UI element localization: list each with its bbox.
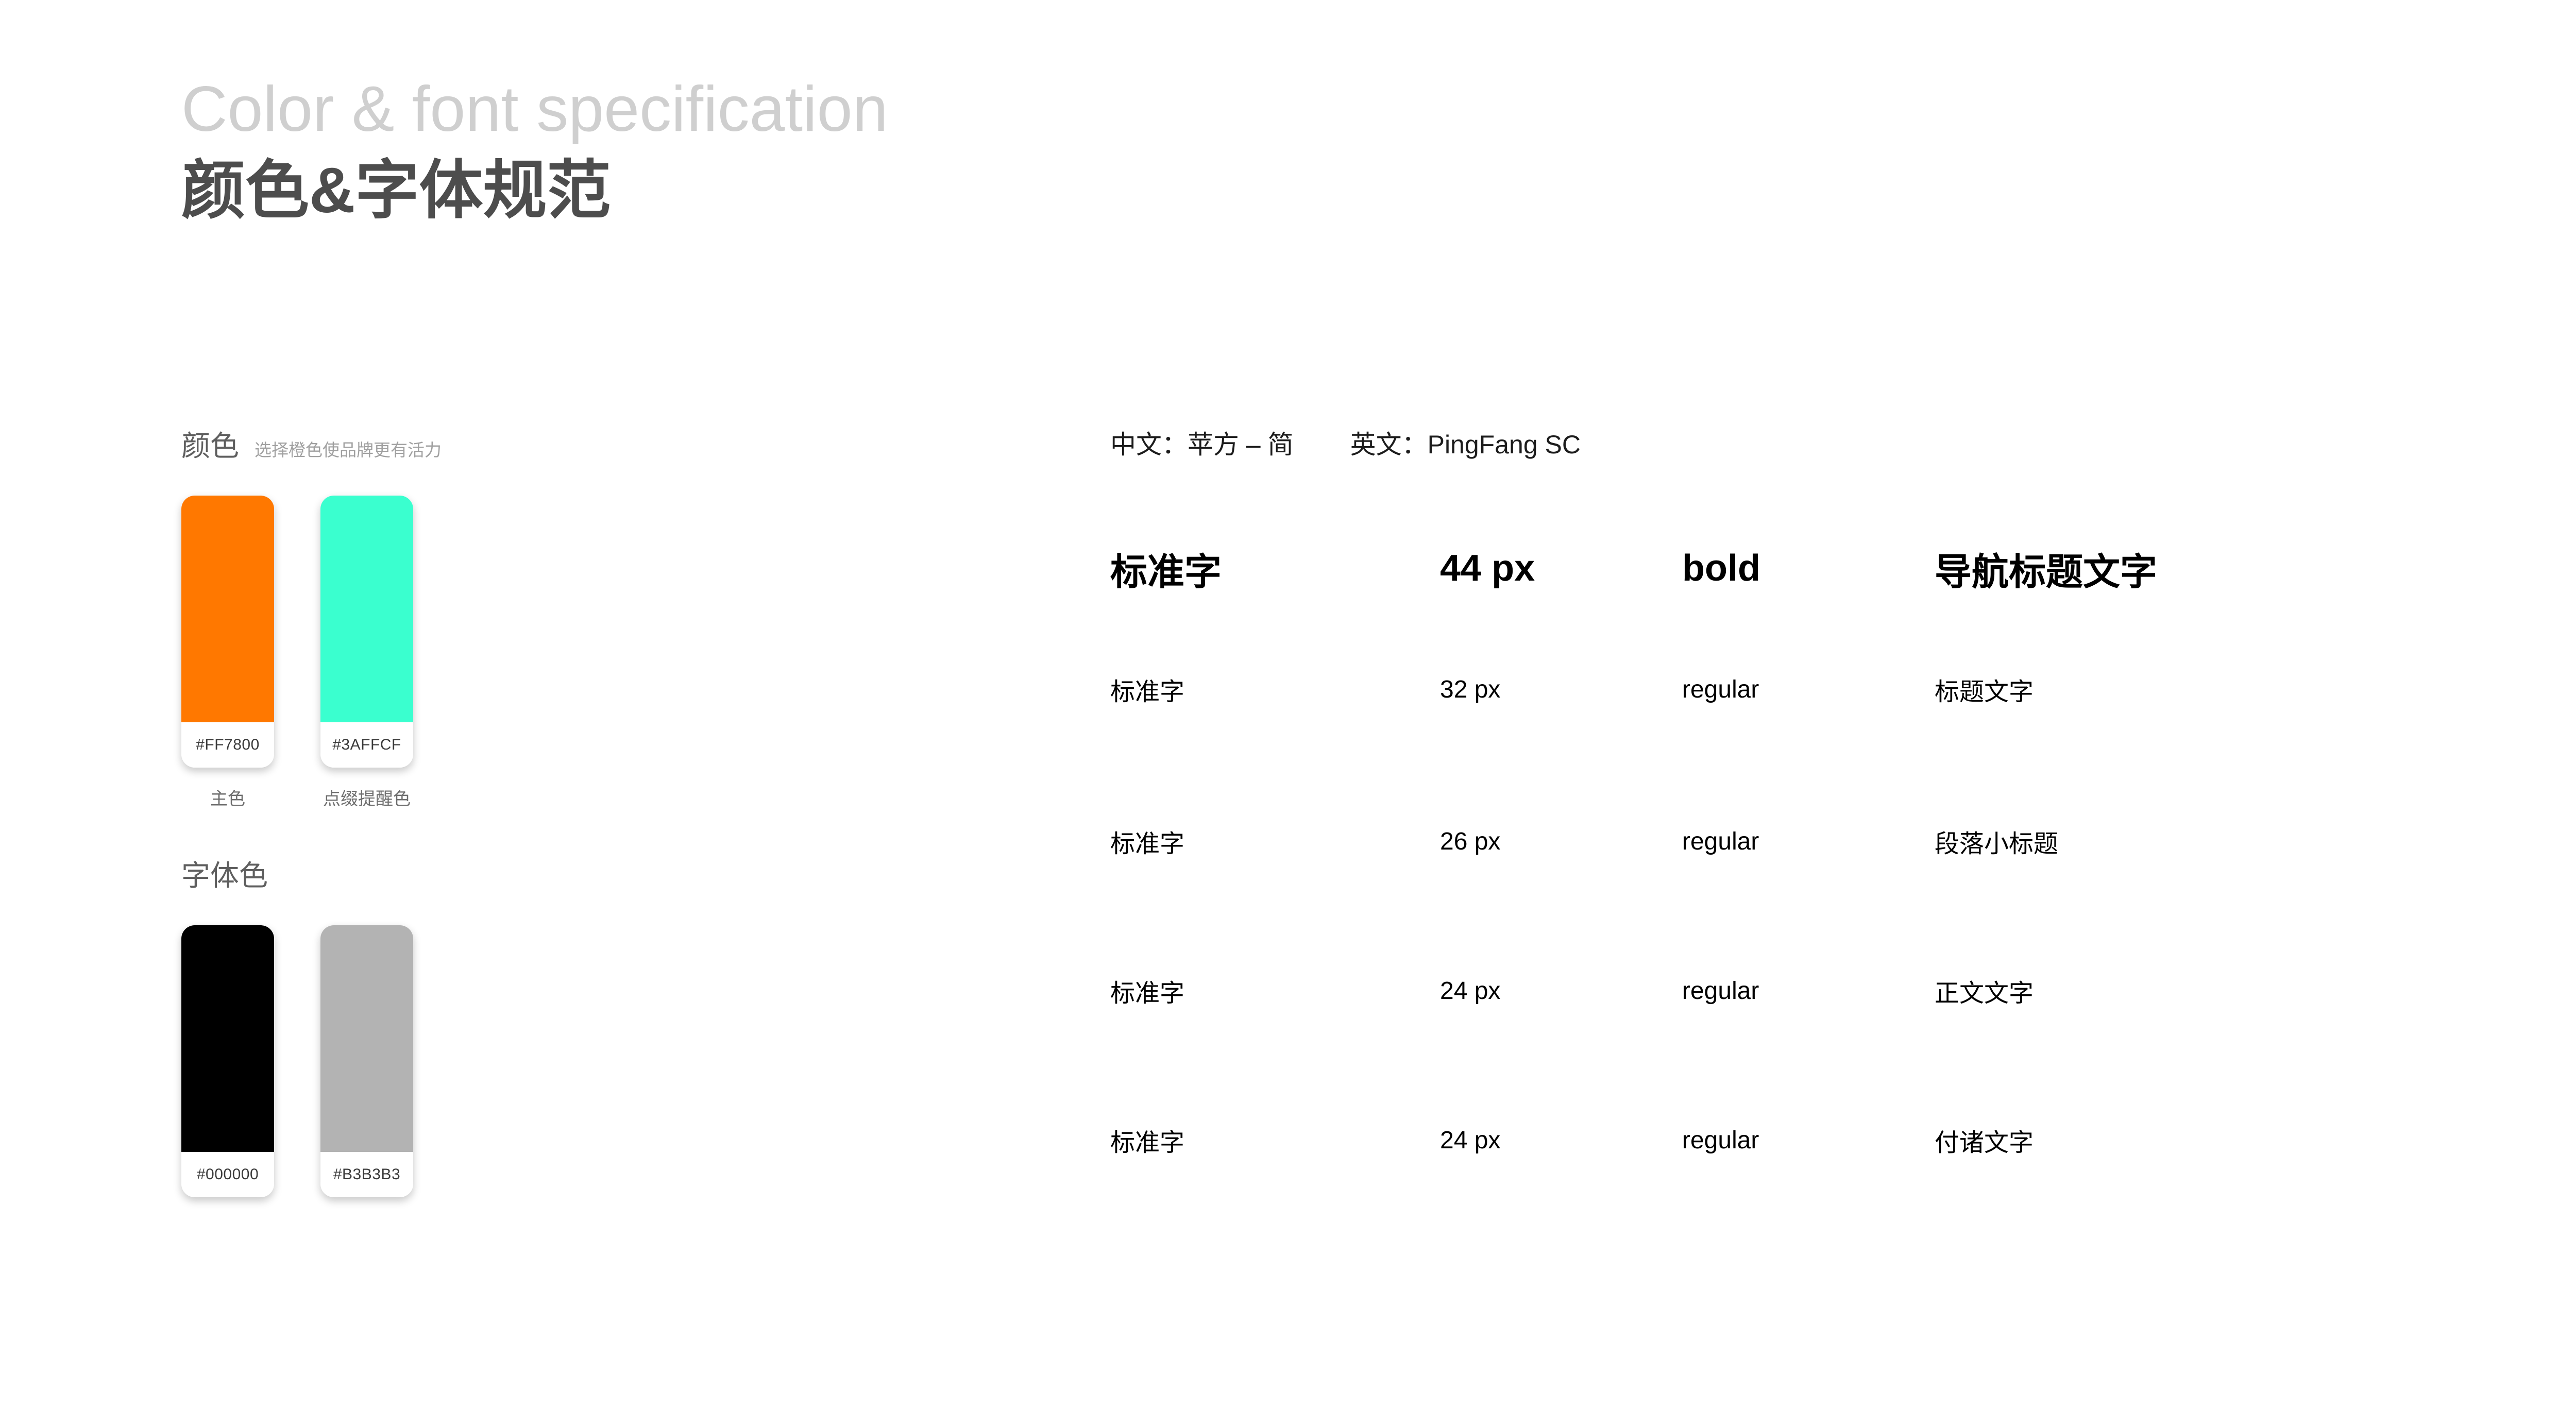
font-weight: regular [1682,1065,1935,1215]
font-size: 24 px [1440,916,1682,1065]
swatch-item: #FF7800 主色 [181,496,274,808]
swatch-caption [320,1220,413,1237]
swatch-item: #3AFFCF 点缀提醒色 [320,496,413,808]
swatch-color-fill [320,925,413,1152]
color-specification-panel: 颜色 选择橙色使品牌更有活力 #FF7800 主色 #3AFFCF 点缀提醒色 [181,432,954,1237]
font-sample: 标准字 [1110,1065,1440,1215]
font-size: 26 px [1440,767,1682,916]
color-swatch-row: #FF7800 主色 #3AFFCF 点缀提醒色 [181,496,954,808]
font-size: 44 px [1440,524,1682,612]
swatch-color-fill [181,496,274,722]
font-usage: 段落小标题 [1935,767,2429,916]
page-title-chinese: 颜色&字体规范 [181,159,888,223]
swatch-color-fill [181,925,274,1152]
font-family-row: 中文：苹方 – 简 英文：PingFang SC [1110,432,2450,457]
color-group-header: 颜色 选择橙色使品牌更有活力 [181,432,954,461]
font-specification-panel: 中文：苹方 – 简 英文：PingFang SC 标准字 44 px bold … [1110,432,2450,1215]
page-title-block: Color & font specification 颜色&字体规范 [181,77,888,223]
font-sample: 标准字 [1110,612,1440,767]
table-row: 标准字 24 px regular 正文文字 [1110,916,2429,1065]
color-group-title: 颜色 [181,432,239,461]
font-usage: 标题文字 [1935,612,2429,767]
font-sample: 标准字 [1110,524,1440,612]
color-swatch-card[interactable]: #000000 [181,925,274,1197]
font-weight: bold [1682,524,1935,612]
font-color-group-header: 字体色 [181,861,954,890]
color-swatch-card[interactable]: #FF7800 [181,496,274,768]
swatch-hex-label: #B3B3B3 [320,1152,413,1197]
font-weight: regular [1682,612,1935,767]
color-swatch-card[interactable]: #3AFFCF [320,496,413,768]
font-usage: 付诸文字 [1935,1065,2429,1215]
table-row: 标准字 26 px regular 段落小标题 [1110,767,2429,916]
swatch-color-fill [320,496,413,722]
font-color-swatch-row: #000000 #B3B3B3 [181,925,954,1237]
font-sample: 标准字 [1110,916,1440,1065]
swatch-item: #B3B3B3 [320,925,413,1237]
swatch-hex-label: #FF7800 [181,722,274,768]
font-size: 32 px [1440,612,1682,767]
swatch-caption: 主色 [181,790,274,808]
color-group-subtitle: 选择橙色使品牌更有活力 [255,442,442,459]
color-group: 颜色 选择橙色使品牌更有活力 #FF7800 主色 #3AFFCF 点缀提醒色 [181,432,954,808]
font-sample: 标准字 [1110,767,1440,916]
swatch-caption: 点缀提醒色 [320,790,413,808]
font-weight: regular [1682,916,1935,1065]
color-swatch-card[interactable]: #B3B3B3 [320,925,413,1197]
font-weight: regular [1682,767,1935,916]
table-row: 标准字 24 px regular 付诸文字 [1110,1065,2429,1215]
swatch-hex-label: #3AFFCF [320,722,413,768]
font-spec-table: 标准字 44 px bold 导航标题文字 标准字 32 px regular … [1110,524,2429,1215]
chinese-font-family: 中文：苹方 – 简 [1110,432,1294,457]
font-usage: 导航标题文字 [1935,524,2429,612]
page-title-english: Color & font specification [181,77,888,141]
table-row: 标准字 44 px bold 导航标题文字 [1110,524,2429,612]
font-color-group-title: 字体色 [181,861,268,890]
font-size: 24 px [1440,1065,1682,1215]
swatch-hex-label: #000000 [181,1152,274,1197]
swatch-caption [181,1220,274,1237]
font-usage: 正文文字 [1935,916,2429,1065]
table-row: 标准字 32 px regular 标题文字 [1110,612,2429,767]
swatch-item: #000000 [181,925,274,1237]
english-font-family: 英文：PingFang SC [1350,432,1581,457]
font-color-group: 字体色 #000000 #B3B3B3 [181,861,954,1237]
